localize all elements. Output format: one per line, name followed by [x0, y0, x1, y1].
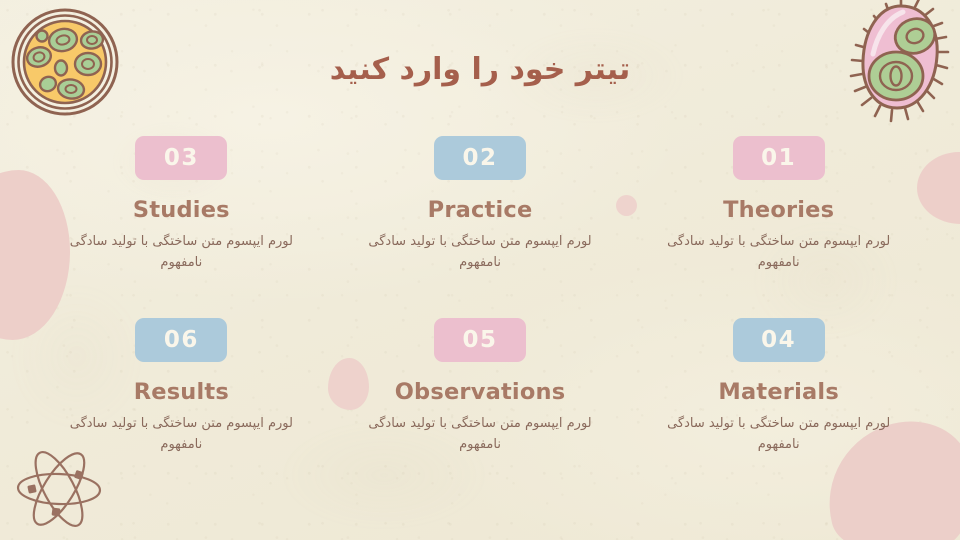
item-number-badge: 01	[733, 136, 825, 180]
item-body: لورم ایپسوم متن ساختگی با تولید سادگی نا…	[56, 231, 306, 274]
item-body: لورم ایپسوم متن ساختگی با تولید سادگی نا…	[654, 413, 904, 456]
item-body: لورم ایپسوم متن ساختگی با تولید سادگی نا…	[355, 413, 605, 456]
list-item[interactable]: 06 Results لورم ایپسوم متن ساختگی با تول…	[40, 314, 323, 492]
list-item[interactable]: 04 Materials لورم ایپسوم متن ساختگی با ت…	[637, 314, 920, 492]
item-heading: Materials	[718, 379, 839, 405]
item-heading: Results	[134, 379, 229, 405]
list-item[interactable]: 01 Theories لورم ایپسوم متن ساختگی با تو…	[637, 132, 920, 310]
item-number-badge: 03	[135, 136, 227, 180]
list-item[interactable]: 03 Studies لورم ایپسوم متن ساختگی با تول…	[40, 132, 323, 310]
item-body: لورم ایپسوم متن ساختگی با تولید سادگی نا…	[56, 413, 306, 456]
page-title: تیتر خود را وارد کنید	[0, 52, 960, 87]
item-body: لورم ایپسوم متن ساختگی با تولید سادگی نا…	[654, 231, 904, 274]
items-grid: 01 Theories لورم ایپسوم متن ساختگی با تو…	[40, 132, 920, 492]
list-item[interactable]: 05 Observations لورم ایپسوم متن ساختگی ب…	[339, 314, 622, 492]
item-heading: Observations	[395, 379, 566, 405]
item-number-badge: 05	[434, 318, 526, 362]
item-heading: Practice	[428, 197, 533, 223]
item-heading: Studies	[133, 197, 230, 223]
list-item[interactable]: 02 Practice لورم ایپسوم متن ساختگی با تو…	[339, 132, 622, 310]
presentation-slide: تیتر خود را وارد کنید 01 Theories لورم ا…	[0, 0, 960, 540]
item-heading: Theories	[723, 197, 834, 223]
item-body: لورم ایپسوم متن ساختگی با تولید سادگی نا…	[355, 231, 605, 274]
item-number-badge: 04	[733, 318, 825, 362]
item-number-badge: 06	[135, 318, 227, 362]
item-number-badge: 02	[434, 136, 526, 180]
